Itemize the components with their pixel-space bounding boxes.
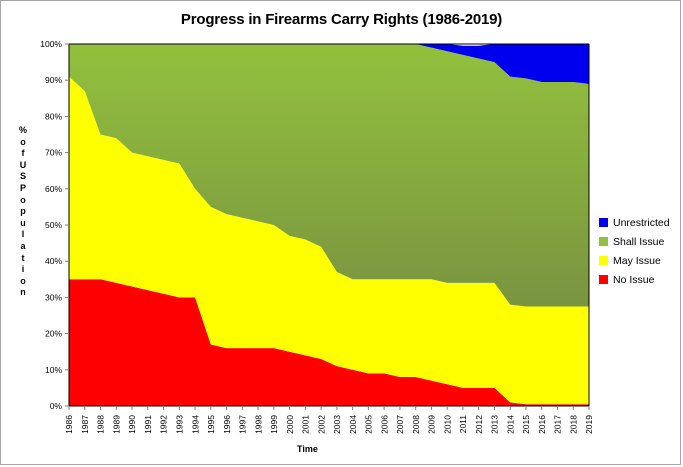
y-axis-ticks: 0%10%20%30%40%50%60%70%80%90%100% — [40, 39, 69, 411]
x-tick-label: 1997 — [238, 415, 248, 434]
x-tick-label: 1995 — [206, 415, 216, 434]
y-tick-label: 80% — [45, 111, 62, 121]
y-tick-label: 50% — [45, 220, 62, 230]
legend-swatch-icon — [599, 237, 608, 246]
x-tick-label: 2006 — [379, 415, 389, 434]
x-tick-label: 1993 — [175, 415, 185, 434]
x-tick-label: 2017 — [553, 415, 563, 434]
y-axis-label-char: % — [15, 125, 31, 137]
y-axis-label-char: p — [15, 206, 31, 218]
legend-label: Shall Issue — [613, 236, 664, 248]
legend-swatch-icon — [599, 275, 608, 284]
x-tick-label: 2016 — [537, 415, 547, 434]
x-tick-label: 2010 — [442, 415, 452, 434]
x-tick-label: 1987 — [80, 415, 90, 434]
y-tick-label: 90% — [45, 75, 62, 85]
x-tick-label: 1994 — [190, 415, 200, 434]
x-tick-label: 1990 — [127, 415, 137, 434]
x-tick-label: 2018 — [568, 415, 578, 434]
x-tick-label: 2013 — [490, 415, 500, 434]
x-tick-label: 1998 — [253, 415, 263, 434]
legend-label: May Issue — [613, 255, 661, 267]
legend-label: Unrestricted — [613, 217, 670, 229]
x-tick-label: 1988 — [96, 415, 106, 434]
legend-item-may-issue[interactable]: May Issue — [599, 251, 677, 270]
x-tick-label: 1986 — [64, 415, 74, 434]
y-axis-label-char: o — [15, 137, 31, 149]
y-tick-label: 100% — [40, 39, 62, 49]
y-tick-label: 70% — [45, 148, 62, 158]
x-axis-label: Time — [297, 444, 318, 454]
y-axis-label-char: a — [15, 241, 31, 253]
x-tick-label: 2012 — [474, 415, 484, 434]
y-tick-label: 60% — [45, 184, 62, 194]
y-tick-label: 0% — [50, 401, 63, 411]
x-tick-label: 2000 — [285, 415, 295, 434]
x-tick-label: 1999 — [269, 415, 279, 434]
x-tick-label: 1991 — [143, 415, 153, 434]
x-axis-ticks: 1986198719881989199019911992199319941995… — [64, 406, 594, 434]
x-tick-label: 2005 — [364, 415, 374, 434]
y-tick-label: 10% — [45, 365, 62, 375]
legend-item-no-issue[interactable]: No Issue — [599, 270, 677, 289]
y-tick-label: 30% — [45, 292, 62, 302]
x-tick-label: 2019 — [584, 415, 594, 434]
x-tick-label: 2014 — [505, 415, 515, 434]
x-tick-label: 2009 — [427, 415, 437, 434]
legend-item-unrestricted[interactable]: Unrestricted — [599, 213, 677, 232]
chart-legend: UnrestrictedShall IssueMay IssueNo Issue — [599, 213, 677, 289]
y-axis-label-char: l — [15, 229, 31, 241]
legend-label: No Issue — [613, 274, 654, 286]
y-axis-label-char: t — [15, 253, 31, 265]
x-tick-label: 1989 — [111, 415, 121, 434]
y-axis-label-char: n — [15, 287, 31, 299]
x-tick-label: 2011 — [458, 415, 468, 434]
x-tick-label: 2001 — [301, 415, 311, 434]
y-axis-label-char: i — [15, 264, 31, 276]
legend-item-shall-issue[interactable]: Shall Issue — [599, 232, 677, 251]
y-axis-label-char: o — [15, 195, 31, 207]
chart-frame: Progress in Firearms Carry Rights (1986-… — [0, 0, 681, 465]
x-tick-label: 2008 — [411, 415, 421, 434]
legend-swatch-icon — [599, 256, 608, 265]
y-axis-label-char: o — [15, 276, 31, 288]
y-tick-label: 40% — [45, 256, 62, 266]
x-tick-label: 2002 — [316, 415, 326, 434]
y-axis-label-char: U — [15, 160, 31, 172]
area-series-group — [69, 44, 589, 406]
legend-swatch-icon — [599, 218, 608, 227]
x-tick-label: 2007 — [395, 415, 405, 434]
y-tick-label: 20% — [45, 329, 62, 339]
y-axis-label-char: S — [15, 171, 31, 183]
y-axis-label: %ofUSPopulation — [15, 125, 31, 299]
y-axis-label-char: P — [15, 183, 31, 195]
x-tick-label: 2003 — [332, 415, 342, 434]
stacked-area-plot: 0%10%20%30%40%50%60%70%80%90%100% 198619… — [1, 1, 682, 466]
y-axis-label-char: u — [15, 218, 31, 230]
x-tick-label: 1996 — [222, 415, 232, 434]
x-tick-label: 2015 — [521, 415, 531, 434]
y-axis-label-char: f — [15, 148, 31, 160]
x-tick-label: 1992 — [159, 415, 169, 434]
x-tick-label: 2004 — [348, 415, 358, 434]
